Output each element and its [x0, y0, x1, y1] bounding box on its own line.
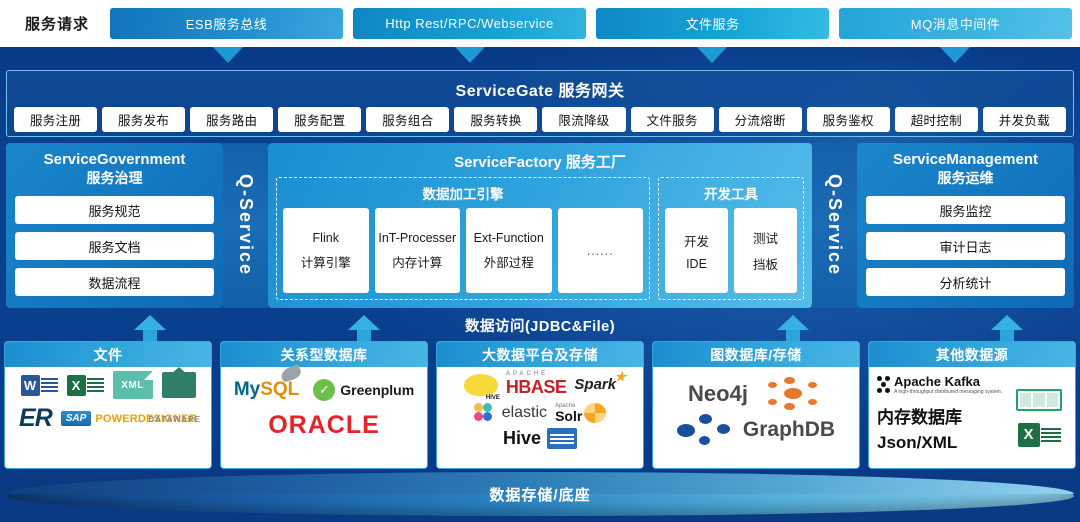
table-icon: [1016, 389, 1062, 411]
tools-card-ide-desc: IDE: [686, 257, 707, 271]
data-storage-base-banner: 数据存储/底座: [0, 472, 1080, 522]
data-source-bigdata-body: APACHE HBASE Spark elastic: [437, 367, 643, 468]
service-factory-body: 数据加工引擎 Flink 计算引擎 InT-Processer 内存计算 Ext…: [276, 177, 804, 300]
solr-text-wrap: Apache Solr: [555, 403, 582, 423]
governance-item-doc[interactable]: 服务文档: [15, 232, 214, 260]
erwin-logo-text: ER: [19, 404, 52, 432]
engine-card-more[interactable]: ......: [558, 208, 644, 293]
neo4j-logo: Neo4j: [688, 381, 748, 407]
hive-doc-icon: [547, 428, 577, 449]
q-service-band-left: Q-Service: [223, 143, 268, 308]
gate-item-file-service[interactable]: 文件服务: [631, 107, 714, 132]
excel-icon: X: [67, 375, 104, 396]
data-processing-engine-group: 数据加工引擎 Flink 计算引擎 InT-Processer 内存计算 Ext…: [276, 177, 650, 300]
gate-item-compose[interactable]: 服务组合: [366, 107, 449, 132]
q-service-band-right: Q-Service: [812, 143, 857, 308]
mysql-sql-text: SQL: [260, 379, 299, 400]
service-request-buttons: ESB服务总线 Http Rest/RPC/Webservice 文件服务 MQ…: [106, 8, 1072, 39]
dev-tools-title: 开发工具: [665, 182, 797, 208]
data-access-label: 数据访问(JDBC&File): [465, 315, 615, 336]
dataware-text: DATAWARE: [148, 415, 201, 424]
graphdb-logo: GraphDB: [743, 418, 835, 442]
service-government-title-en: ServiceGovernment: [15, 151, 214, 170]
service-management-items: 服务监控 审计日志 分析统计: [866, 196, 1065, 300]
oracle-logo: ORACLE: [268, 411, 380, 440]
word-icon: W: [21, 375, 58, 396]
kafka-text-wrap: Apache Kafka A high-throughput distribut…: [894, 374, 1002, 395]
flow-arrow-down-1: [213, 47, 243, 63]
flow-arrow-down-4: [940, 47, 970, 63]
tools-card-ide[interactable]: 开发 IDE: [665, 208, 728, 293]
q-service-label-left: Q-Service: [235, 174, 256, 276]
bigdata-logo-row-1: APACHE HBASE Spark: [441, 371, 639, 398]
mysql-logo: MySQL: [234, 379, 299, 401]
data-source-bigdata[interactable]: 大数据平台及存储 APACHE HBASE Spark: [436, 341, 644, 469]
files-logo-row-1: W X XML: [9, 371, 207, 399]
kafka-subtitle: A high-throughput distributed messaging …: [894, 389, 1002, 395]
gate-item-throttle[interactable]: 限流降级: [542, 107, 625, 132]
gate-item-transform[interactable]: 服务转换: [454, 107, 537, 132]
engine-card-ext-function-name: Ext-Function: [474, 231, 544, 245]
engine-card-ext-function-desc: 外部过程: [484, 252, 534, 271]
service-management-title: ServiceManagement 服务运维: [866, 151, 1065, 187]
greenplum-circle-icon: ✓: [313, 379, 335, 401]
gate-item-circuit-breaker[interactable]: 分流熔断: [719, 107, 802, 132]
service-request-button-file[interactable]: 文件服务: [596, 8, 829, 39]
excel-icon-other: X: [1018, 423, 1061, 447]
data-sources-row: 文件 W X XML ER SAP POWE: [4, 341, 1076, 469]
memory-database-label: 内存数据库: [877, 403, 1007, 428]
greenplum-text: Greenplum: [340, 382, 414, 398]
engine-card-more-label: ......: [587, 244, 614, 258]
kafka-dots-icon: [877, 376, 891, 394]
xml-icon: XML: [113, 371, 153, 399]
service-factory-panel: ServiceFactory 服务工厂 数据加工引擎 Flink 计算引擎 In…: [268, 143, 812, 308]
service-request-button-mq[interactable]: MQ消息中间件: [839, 8, 1072, 39]
rdbms-logo-row-1: MySQL ✓ Greenplum: [225, 379, 423, 401]
data-source-rdbms[interactable]: 关系型数据库 MySQL ✓ Greenplum ORACLE: [220, 341, 428, 469]
erwin-logo: ER: [19, 404, 52, 433]
kafka-text: Apache Kafka: [894, 374, 980, 389]
service-request-bar: 服务请求 ESB服务总线 Http Rest/RPC/Webservice 文件…: [0, 0, 1080, 47]
management-item-analytics[interactable]: 分析统计: [866, 268, 1065, 296]
service-gate-items: 服务注册 服务发布 服务路由 服务配置 服务组合 服务转换 限流降级 文件服务 …: [7, 101, 1073, 132]
data-source-graphdb[interactable]: 图数据库/存储 Neo4j: [652, 341, 860, 469]
data-source-graphdb-title: 图数据库/存储: [653, 342, 859, 367]
gate-item-register[interactable]: 服务注册: [14, 107, 97, 132]
management-item-audit-log[interactable]: 审计日志: [866, 232, 1065, 260]
gate-item-route[interactable]: 服务路由: [190, 107, 273, 132]
service-gate-title: ServiceGate 服务网关: [7, 71, 1073, 101]
solr-text: Solr: [555, 408, 582, 424]
hbase-text: HBASE: [506, 377, 567, 397]
kafka-logo: Apache Kafka A high-throughput distribut…: [877, 374, 1007, 395]
service-government-title-cn: 服务治理: [15, 170, 214, 188]
hive-logo: Hive: [503, 428, 541, 449]
data-storage-label: 数据存储/底座: [0, 484, 1080, 505]
data-source-graphdb-body: Neo4j GraphDB: [653, 367, 859, 468]
engine-card-flink-desc: 计算引擎: [301, 252, 351, 271]
data-processing-engine-title: 数据加工引擎: [283, 182, 643, 208]
hbase-logo: APACHE HBASE: [506, 371, 567, 398]
gate-item-timeout[interactable]: 超时控制: [895, 107, 978, 132]
sap-badge-text: SAP: [61, 411, 92, 426]
q-service-label-right: Q-Service: [824, 174, 845, 276]
gate-item-publish[interactable]: 服务发布: [102, 107, 185, 132]
data-source-others-title: 其他数据源: [869, 342, 1075, 367]
solr-sunburst-icon: [584, 403, 606, 423]
service-request-button-http[interactable]: Http Rest/RPC/Webservice: [353, 8, 586, 39]
governance-item-dataflow[interactable]: 数据流程: [15, 268, 214, 296]
tools-card-test[interactable]: 测试 挡板: [734, 208, 797, 293]
engine-card-int-processer-desc: 内存计算: [392, 252, 442, 271]
service-government-items: 服务规范 服务文档 数据流程: [15, 196, 214, 300]
service-factory-title: ServiceFactory 服务工厂: [276, 149, 804, 177]
data-source-others-body: Apache Kafka A high-throughput distribut…: [869, 367, 1075, 468]
data-processing-engine-cards: Flink 计算引擎 InT-Processer 内存计算 Ext-Functi…: [283, 208, 643, 293]
data-source-files-title: 文件: [5, 342, 211, 367]
graphdb-logo-row-2: GraphDB: [657, 413, 855, 447]
engine-card-int-processer-name: InT-Processer: [378, 231, 456, 245]
bigdata-logo-row-3: Hive: [441, 428, 639, 449]
gate-item-auth[interactable]: 服务鉴权: [807, 107, 890, 132]
gate-item-concurrency[interactable]: 并发负载: [983, 107, 1066, 132]
engine-card-flink[interactable]: Flink 计算引擎: [283, 208, 369, 293]
dev-tools-cards: 开发 IDE 测试 挡板: [665, 208, 797, 293]
mysql-my-text: My: [234, 379, 260, 400]
service-management-title-cn: 服务运维: [866, 170, 1065, 188]
others-icon-column: X: [1007, 371, 1071, 464]
elastic-logo: elastic: [474, 403, 547, 423]
service-request-label: 服务请求: [8, 13, 106, 34]
flow-arrow-down-3: [697, 47, 727, 63]
management-item-monitor[interactable]: 服务监控: [866, 196, 1065, 224]
tools-card-test-name: 测试: [753, 228, 778, 247]
data-source-rdbms-body: MySQL ✓ Greenplum ORACLE: [221, 367, 427, 468]
service-management-title-en: ServiceManagement: [866, 151, 1065, 170]
mysql-dolphin-icon: [280, 364, 303, 383]
engine-card-flink-name: Flink: [313, 231, 339, 245]
dataware-logo: DATAWARE: [148, 409, 201, 427]
service-government-title: ServiceGovernment 服务治理: [15, 151, 214, 187]
dev-tools-group: 开发工具 开发 IDE 测试 挡板: [658, 177, 804, 300]
service-request-button-esb[interactable]: ESB服务总线: [110, 8, 343, 39]
elastic-text: elastic: [502, 404, 547, 422]
service-gate-panel: ServiceGate 服务网关 服务注册 服务发布 服务路由 服务配置 服务组…: [6, 70, 1074, 137]
data-source-files[interactable]: 文件 W X XML ER SAP POWE: [4, 341, 212, 469]
solr-logo: Apache Solr: [555, 403, 606, 423]
spark-logo: Spark: [574, 376, 616, 393]
tools-card-test-desc: 挡板: [753, 254, 778, 273]
rdbms-logo-row-2: ORACLE: [225, 411, 423, 440]
graphdb-logo-row-1: Neo4j: [657, 377, 855, 411]
data-source-others[interactable]: 其他数据源 Apache Kafka A high-throughput dis…: [868, 341, 1076, 469]
governance-item-spec[interactable]: 服务规范: [15, 196, 214, 224]
data-source-rdbms-title: 关系型数据库: [221, 342, 427, 367]
flow-arrow-down-2: [455, 47, 485, 63]
elastic-dots-icon: [474, 403, 498, 423]
gate-item-config[interactable]: 服务配置: [278, 107, 361, 132]
data-source-bigdata-title: 大数据平台及存储: [437, 342, 643, 367]
greenplum-logo: ✓ Greenplum: [313, 379, 414, 401]
data-access-bar: 数据访问(JDBC&File): [6, 312, 1074, 338]
engine-card-int-processer[interactable]: InT-Processer 内存计算: [375, 208, 461, 293]
service-government-panel: ServiceGovernment 服务治理 服务规范 服务文档 数据流程: [6, 143, 223, 308]
hadoop-hive-logo: [464, 374, 498, 396]
data-source-files-body: W X XML ER SAP POWERDESIGNER: [5, 367, 211, 468]
json-xml-label: Json/XML: [877, 433, 1007, 453]
others-text-column: Apache Kafka A high-throughput distribut…: [873, 371, 1007, 464]
engine-card-ext-function[interactable]: Ext-Function 外部过程: [466, 208, 552, 293]
orange-graph-icon: [762, 377, 824, 411]
node-graph-icon: [677, 413, 733, 447]
platform-middle-row: ServiceGovernment 服务治理 服务规范 服务文档 数据流程 Q-…: [6, 143, 1074, 308]
generic-file-icon: [162, 372, 196, 398]
bigdata-logo-row-2: elastic Apache Solr: [441, 403, 639, 423]
tools-card-ide-name: 开发: [684, 231, 709, 250]
service-management-panel: ServiceManagement 服务运维 服务监控 审计日志 分析统计: [857, 143, 1074, 308]
